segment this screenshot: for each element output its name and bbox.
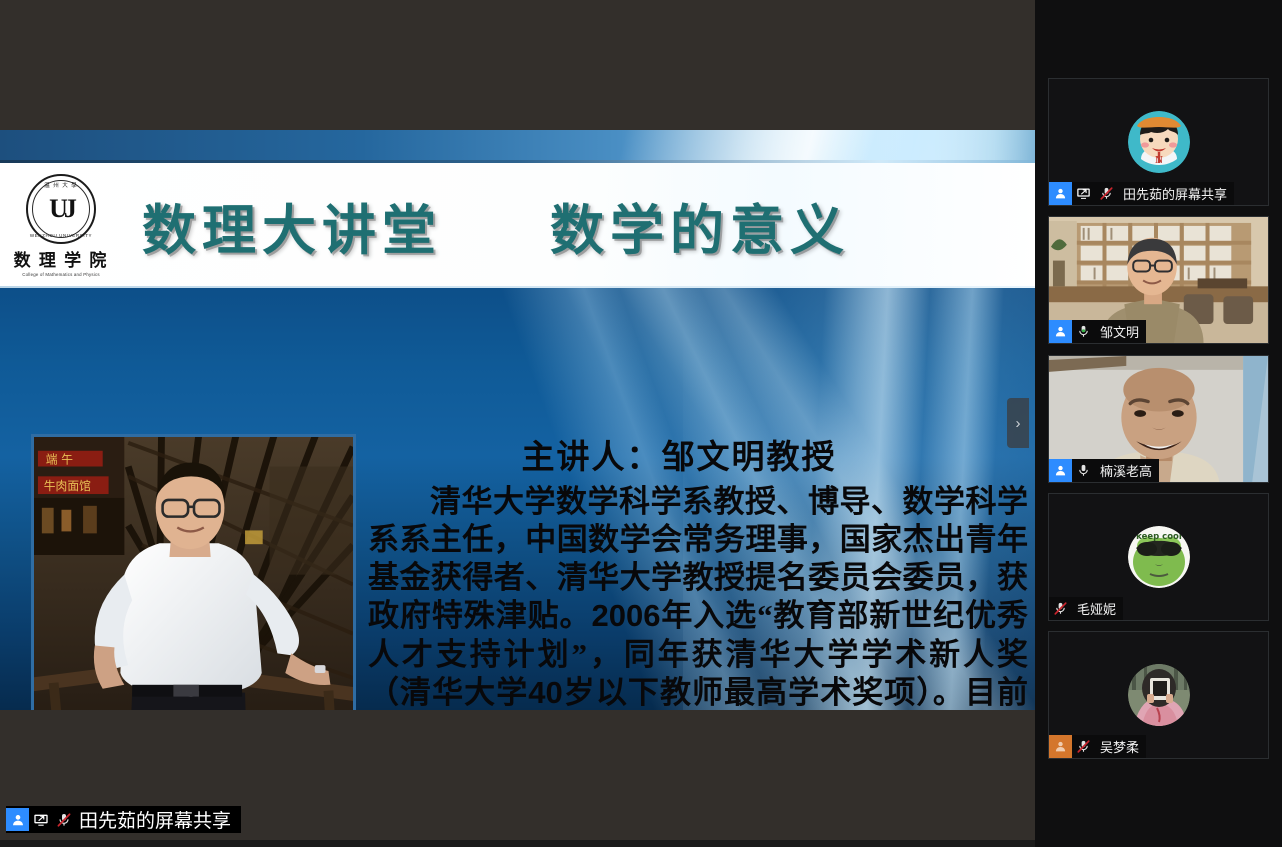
svg-text:端 午: 端 午 — [46, 453, 73, 467]
tile-name-label: 邹文明 — [1049, 320, 1146, 343]
participant-name: 吴梦柔 — [1100, 737, 1139, 756]
microphone-icon — [1072, 320, 1095, 343]
person-icon — [6, 808, 29, 831]
speaker-photo: 端 午 牛肉面馆 — [31, 434, 356, 710]
chevron-right-icon[interactable]: › — [1007, 398, 1029, 448]
microphone-muted-icon — [1049, 597, 1072, 620]
microphone-muted-icon — [52, 808, 75, 831]
avatar — [1128, 664, 1190, 726]
logo-monogram: UJ — [49, 196, 73, 222]
microphone-muted-icon — [1072, 735, 1095, 758]
speaker-bio-paragraph: 清华大学数学科学系教授、博导、数学科学系系主任，中国数学会常务理事，国家杰出青年… — [368, 483, 1028, 710]
tile-name-label: 毛娅妮 — [1049, 597, 1123, 620]
logo-college-name-en: College of Mathematics and Physics — [22, 272, 100, 277]
shared-screen-stage[interactable]: 溫 州 大 學 UJ WENZHOU UNIVERSITY 数 理 学 院 Co… — [0, 0, 1035, 840]
presentation-slide: 溫 州 大 學 UJ WENZHOU UNIVERSITY 数 理 学 院 Co… — [0, 130, 1035, 710]
svg-text:牛肉面馆: 牛肉面馆 — [44, 479, 91, 493]
screen-share-icon — [1072, 182, 1095, 205]
person-icon — [1049, 735, 1072, 758]
tile-name-label: 田先茹的屏幕共享 — [1049, 182, 1234, 205]
participant-name: 邹文明 — [1100, 322, 1139, 341]
participant-tile[interactable]: 邹文明 — [1048, 216, 1269, 344]
speaker-name-line: 主讲人：邹文明教授 — [368, 430, 1028, 478]
person-icon — [1049, 182, 1072, 205]
participant-tile[interactable]: keep cool 毛娅妮 — [1048, 493, 1269, 621]
person-icon — [1049, 459, 1072, 482]
logo-seal-icon: 溫 州 大 學 UJ WENZHOU UNIVERSITY — [26, 174, 96, 244]
logo-ring-top-text: 溫 州 大 學 — [28, 181, 94, 189]
logo-ring-bottom-text: WENZHOU UNIVERSITY — [28, 233, 94, 238]
slide-top-band — [0, 130, 1035, 163]
slide-title-sub: 数学的意义 — [550, 186, 850, 265]
person-icon — [1049, 320, 1072, 343]
screen-share-icon — [29, 808, 52, 831]
university-logo: 溫 州 大 學 UJ WENZHOU UNIVERSITY 数 理 学 院 Co… — [18, 174, 104, 278]
microphone-muted-icon — [1095, 182, 1118, 205]
logo-college-name-cn: 数 理 学 院 — [14, 246, 109, 271]
microphone-icon — [1072, 459, 1095, 482]
participant-tile[interactable]: 楠溪老高 — [1048, 355, 1269, 483]
participant-tile[interactable]: 吴梦柔 — [1048, 631, 1269, 759]
slide-header: 溫 州 大 學 UJ WENZHOU UNIVERSITY 数 理 学 院 Co… — [0, 163, 1035, 288]
participant-thumbnail-panel[interactable]: N 田先茹的屏幕 — [1035, 0, 1282, 847]
conference-window: 溫 州 大 學 UJ WENZHOU UNIVERSITY 数 理 学 院 Co… — [0, 0, 1282, 847]
avatar: N — [1128, 111, 1190, 173]
participant-name: 田先茹的屏幕共享 — [1123, 184, 1227, 203]
tile-name-label: 楠溪老高 — [1049, 459, 1159, 482]
svg-text:keep cool: keep cool — [1136, 532, 1182, 542]
svg-text:N: N — [1155, 154, 1163, 166]
participant-tile[interactable]: N 田先茹的屏幕 — [1048, 78, 1269, 206]
avatar: keep cool — [1128, 526, 1190, 588]
speaker-photo-image: 端 午 牛肉面馆 — [34, 437, 353, 710]
participant-name: 楠溪老高 — [1100, 461, 1152, 480]
slide-body: 端 午 牛肉面馆 — [0, 288, 1035, 710]
slide-text-block: 主讲人：邹文明教授 清华大学数学科学系教授、博导、数学科学系系主任，中国数学会常… — [368, 430, 1028, 710]
participant-name: 毛娅妮 — [1077, 599, 1116, 618]
share-owner-name: 田先茹的屏幕共享 — [79, 806, 231, 833]
slide-title-main: 数理大讲堂 — [142, 186, 442, 265]
share-owner-name-tag: 田先茹的屏幕共享 — [6, 806, 241, 833]
tile-name-label: 吴梦柔 — [1049, 735, 1146, 758]
